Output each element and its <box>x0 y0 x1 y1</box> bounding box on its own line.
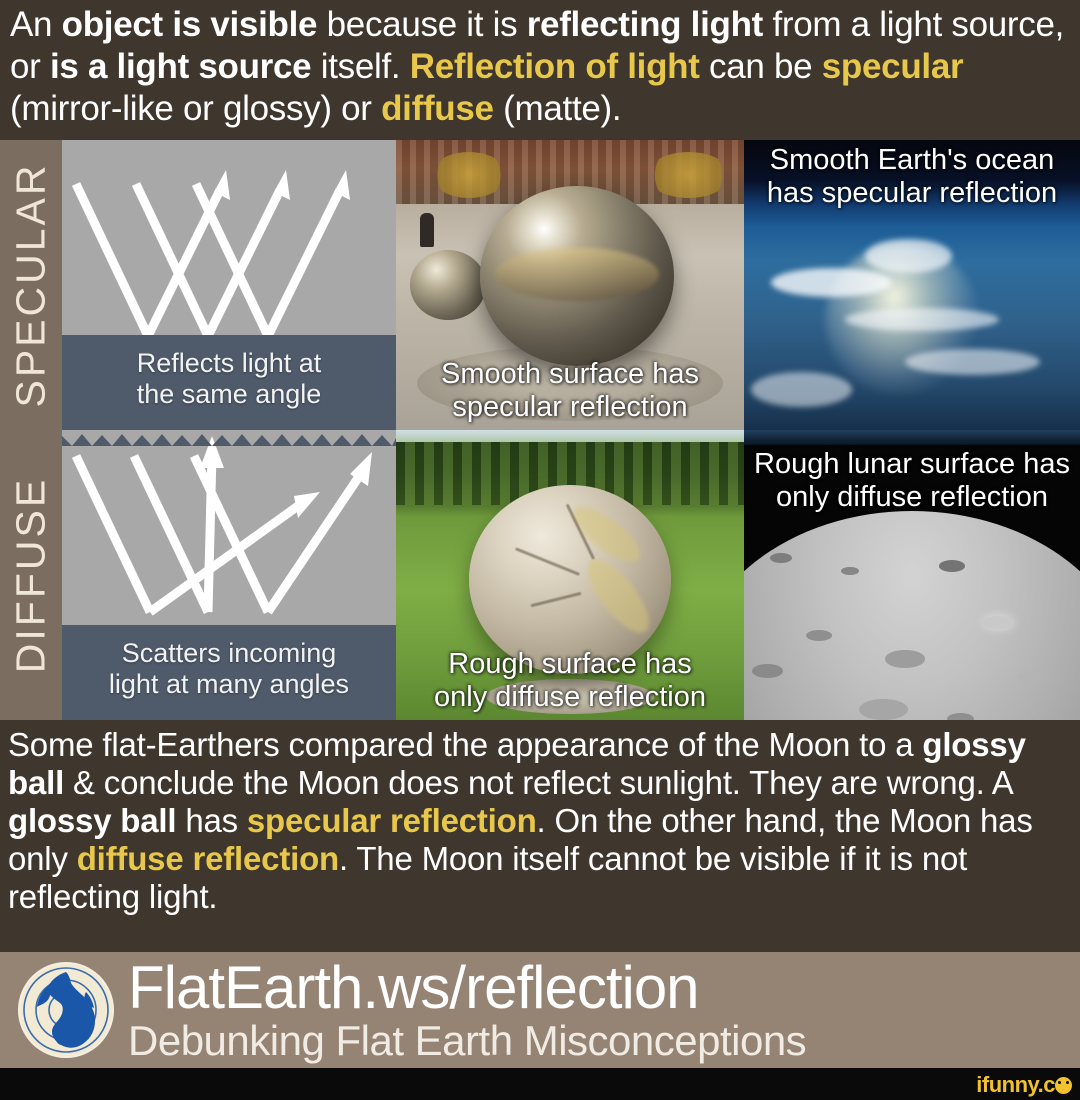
crater-9 <box>859 699 908 720</box>
photo-chrome-sphere: Smooth surface has specular reflection <box>396 140 744 430</box>
row-label-specular: SPECULAR <box>0 140 62 430</box>
stone-caption-line1: Rough surface has <box>396 648 744 681</box>
crater-4-bright <box>983 616 1014 630</box>
crater-5 <box>806 630 833 641</box>
infographic-poster: An object is visible because it is refle… <box>0 0 1080 1100</box>
header-seg-8: Reflection of light <box>410 47 700 86</box>
specular-diagram-panel: Reflects light at the same angle <box>62 140 396 430</box>
crater-6 <box>885 650 925 667</box>
header-seg-7: itself. <box>311 47 409 86</box>
footer-branding-bar: FlatEarth.ws/reflection Debunking Flat E… <box>0 952 1080 1068</box>
bottom-black-bar <box>0 1068 1080 1100</box>
cloud-band-4 <box>751 372 852 407</box>
diffuse-diagram-panel: Scatters incoming light at many angles <box>62 430 396 720</box>
header-seg-11: (mirror-like or glossy) or <box>10 89 381 128</box>
diffuse-diagram-caption: Scatters incoming light at many angles <box>62 638 396 700</box>
smiley-face-icon <box>1055 1077 1072 1094</box>
earth-caption: Smooth Earth's ocean has specular reflec… <box>744 144 1080 210</box>
moon-caption-line1: Rough lunar surface has <box>744 448 1080 481</box>
specular-arrowheads <box>214 170 350 200</box>
diffuse-caption-line2: light at many angles <box>62 669 396 700</box>
crater-2 <box>841 567 859 575</box>
earth-caption-line2: has specular reflection <box>744 177 1080 210</box>
body-seg-5: has <box>176 802 247 839</box>
lunar-terrain <box>744 511 1080 720</box>
stone-caption-line2: only diffuse reflection <box>396 681 744 714</box>
crater-1 <box>770 553 792 563</box>
photo-stone-sphere: Rough surface has only diffuse reflectio… <box>396 430 744 720</box>
flat-earth-globe-icon <box>18 962 114 1058</box>
photo-earth-ocean: Smooth Earth's ocean has specular reflec… <box>744 140 1080 430</box>
small-chrome-sphere <box>410 250 487 320</box>
cloud-band-3 <box>905 349 1039 375</box>
rough-surface-zigzag <box>62 430 396 446</box>
specular-caption-line1: Reflects light at <box>62 348 396 379</box>
photo-lunar-surface: Rough lunar surface has only diffuse ref… <box>744 430 1080 720</box>
body-seg-6: specular reflection <box>247 802 537 839</box>
body-text-block: Some flat-Earthers compared the appearan… <box>0 720 1080 952</box>
stone-crack-2 <box>530 592 582 608</box>
crater-3 <box>939 560 966 572</box>
moon-caption-line2: only diffuse reflection <box>744 481 1080 514</box>
earth-limb-sliver <box>744 430 1080 445</box>
header-seg-2: object is visible <box>62 5 318 44</box>
diffuse-arrowheads <box>200 436 372 518</box>
body-seg-8: diffuse reflection <box>77 840 339 877</box>
ifunny-watermark-text: ifunny.c <box>976 1072 1055 1097</box>
stone-vein-1 <box>565 497 647 570</box>
specular-diagram-caption: Reflects light at the same angle <box>62 348 396 410</box>
pedestrian <box>420 213 434 247</box>
header-text-block: An object is visible because it is refle… <box>0 0 1080 140</box>
ifunny-watermark: ifunny.c <box>976 1072 1072 1098</box>
autumn-foliage-left <box>431 152 508 198</box>
header-seg-6: is a light source <box>50 47 311 86</box>
header-seg-9: can be <box>700 47 822 86</box>
row-label-specular-text: SPECULAR <box>8 162 55 407</box>
comparison-grid: SPECULAR Reflects <box>0 140 1080 720</box>
diffuse-caption-line1: Scatters incoming <box>62 638 396 669</box>
header-seg-10: specular <box>822 47 964 86</box>
row-label-diffuse-text: DIFFUSE <box>8 477 55 673</box>
chrome-sphere-caption: Smooth surface has specular reflection <box>396 358 744 424</box>
header-seg-13: (matte). <box>494 89 622 128</box>
rough-stone-sphere <box>469 485 671 674</box>
header-seg-1: An <box>10 5 62 44</box>
body-seg-1: Some flat-Earthers compared the appearan… <box>8 726 922 763</box>
body-paragraph: Some flat-Earthers compared the appearan… <box>8 726 1072 916</box>
row-label-diffuse: DIFFUSE <box>0 430 62 720</box>
autumn-foliage-right <box>647 152 731 198</box>
brand-text-group: FlatEarth.ws/reflection Debunking Flat E… <box>128 958 806 1062</box>
site-url[interactable]: FlatEarth.ws/reflection <box>128 958 806 1018</box>
body-seg-4: glossy ball <box>8 802 176 839</box>
header-seg-4: reflecting light <box>527 5 763 44</box>
stone-sphere-caption: Rough surface has only diffuse reflectio… <box>396 648 744 714</box>
header-seg-12: diffuse <box>381 89 494 128</box>
header-paragraph: An object is visible because it is refle… <box>10 4 1070 130</box>
crater-10 <box>947 713 974 720</box>
body-seg-3: & conclude the Moon does not reflect sun… <box>64 764 1012 801</box>
header-seg-3: because it is <box>317 5 527 44</box>
moon-caption: Rough lunar surface has only diffuse ref… <box>744 448 1080 514</box>
stone-crack-1 <box>515 548 580 576</box>
crater-8 <box>1018 671 1040 681</box>
large-chrome-sphere <box>480 186 675 366</box>
site-tagline: Debunking Flat Earth Misconceptions <box>128 1020 806 1062</box>
chrome-caption-line1: Smooth surface has <box>396 358 744 391</box>
stone-vein-2 <box>578 551 659 642</box>
earth-caption-line1: Smooth Earth's ocean <box>744 144 1080 177</box>
chrome-caption-line2: specular reflection <box>396 391 744 424</box>
crater-7 <box>752 664 783 678</box>
cloud-band-1 <box>771 268 892 297</box>
specular-caption-line2: the same angle <box>62 379 396 410</box>
